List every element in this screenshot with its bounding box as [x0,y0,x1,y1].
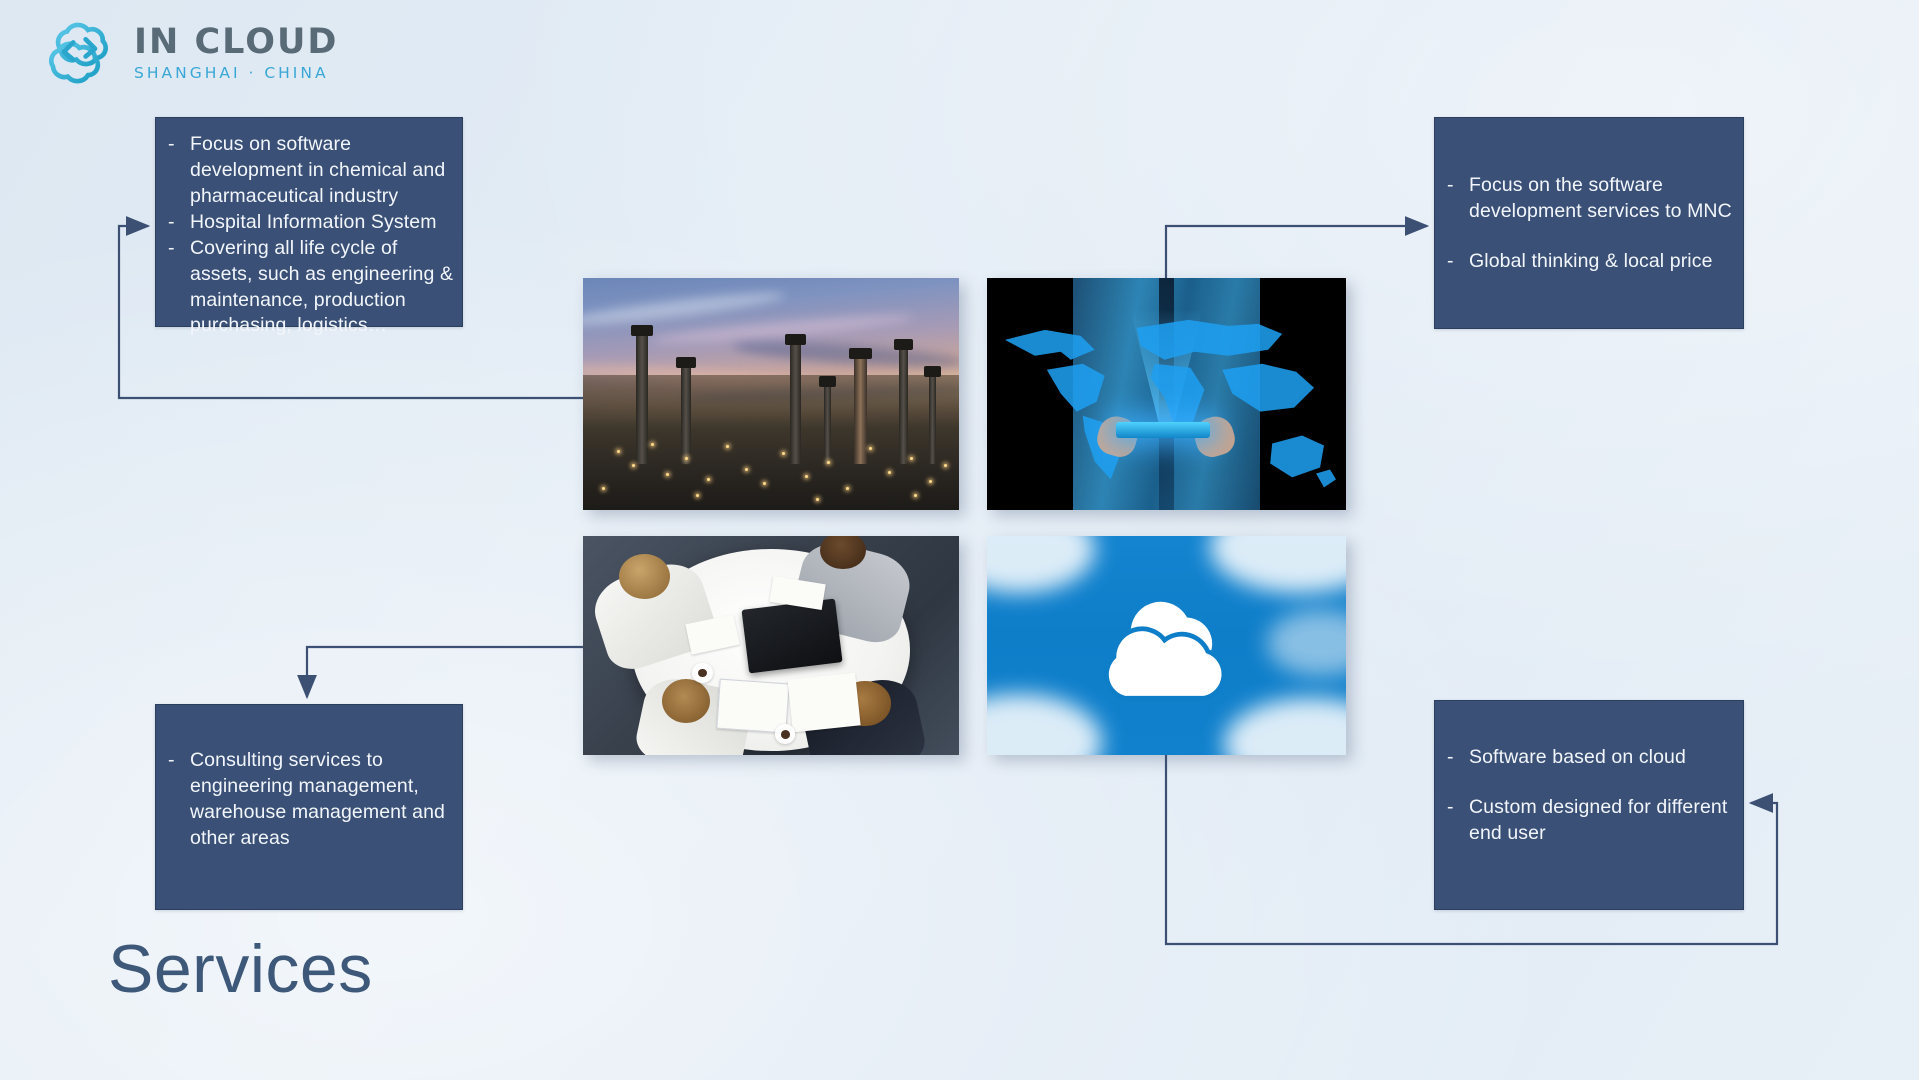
brand-text: IN CLOUD SHANGHAI · CHINA [134,21,338,82]
callout-bullet: Covering all life cycle of assets, such … [156,236,454,340]
world-map-hologram-icon [987,278,1346,509]
petrochemical-refinery-photo [583,278,959,510]
callout-bullet: Consulting services to engineering manag… [156,748,452,852]
slide-canvas: IN CLOUD SHANGHAI · CHINA [0,0,1919,1080]
callout-bullet: Focus on software development in chemica… [156,132,454,210]
global-technology-photo [987,278,1346,510]
business-meeting-photo [583,536,959,755]
callout-cloud-software[interactable]: Software based on cloud Custom designed … [1434,700,1744,910]
callout-software-focus[interactable]: Focus on software development in chemica… [155,117,463,327]
callout-bullet: Software based on cloud [1435,745,1733,771]
connector-meeting-to-consulting-services [307,647,583,697]
cloud-loop-icon [42,16,120,86]
callout-bullet: Hospital Information System [156,210,454,236]
callout-bullet: Custom designed for different end user [1435,795,1733,847]
callout-bullet: Focus on the software development servic… [1435,173,1733,225]
cloud-icon [1048,580,1285,711]
brand-logo: IN CLOUD SHANGHAI · CHINA [42,16,338,86]
cloud-computing-photo [987,536,1346,755]
page-title: Services [108,930,373,1008]
callout-bullet: Global thinking & local price [1435,249,1733,275]
brand-name: IN CLOUD [134,25,338,60]
callout-mnc-services[interactable]: Focus on the software development servic… [1434,117,1744,329]
connector-global-to-mnc-services [1166,226,1427,278]
callout-consulting-services[interactable]: Consulting services to engineering manag… [155,704,463,910]
brand-tagline: SHANGHAI · CHINA [134,66,338,82]
